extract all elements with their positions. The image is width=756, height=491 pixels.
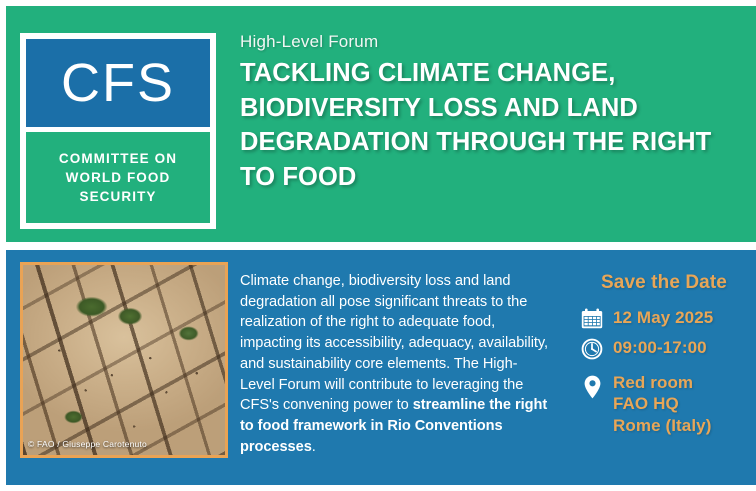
logo-subtitle: COMMITTEE ON WORLD FOOD SECURITY <box>32 149 204 206</box>
clock-icon <box>580 337 604 360</box>
event-time: 09:00-17:00 <box>613 337 707 358</box>
description-lead: Climate change, biodiversity loss and la… <box>240 273 548 413</box>
event-poster: CFS COMMITTEE ON WORLD FOOD SECURITY Hig… <box>0 0 756 491</box>
description-tail: . <box>312 439 316 455</box>
calendar-icon <box>580 307 604 329</box>
photo-image <box>23 265 225 455</box>
event-description: Climate change, biodiversity loss and la… <box>240 271 552 457</box>
save-the-date-panel: Save the Date <box>580 272 752 444</box>
headline-block: High-Level Forum TACKLING CLIMATE CHANGE… <box>240 32 740 195</box>
detail-row-time: 09:00-17:00 <box>580 337 752 360</box>
event-date: 12 May 2025 <box>613 307 713 328</box>
location-pin-icon <box>580 372 604 399</box>
event-location: Red room FAO HQ Rome (Italy) <box>613 372 712 436</box>
cfs-logo: CFS COMMITTEE ON WORLD FOOD SECURITY <box>20 33 216 229</box>
event-headline: TACKLING CLIMATE CHANGE, BIODIVERSITY LO… <box>240 56 740 195</box>
logo-subtitle-panel: COMMITTEE ON WORLD FOOD SECURITY <box>26 132 210 223</box>
event-photo: © FAO / Giuseppe Carotenuto <box>20 262 228 458</box>
detail-row-date: 12 May 2025 <box>580 307 752 329</box>
photo-credit: © FAO / Giuseppe Carotenuto <box>28 439 147 449</box>
logo-acronym: CFS <box>61 56 175 110</box>
save-the-date-title: Save the Date <box>580 272 752 294</box>
event-kicker: High-Level Forum <box>240 32 740 52</box>
logo-acronym-panel: CFS <box>26 39 210 127</box>
detail-row-location: Red room FAO HQ Rome (Italy) <box>580 372 752 436</box>
